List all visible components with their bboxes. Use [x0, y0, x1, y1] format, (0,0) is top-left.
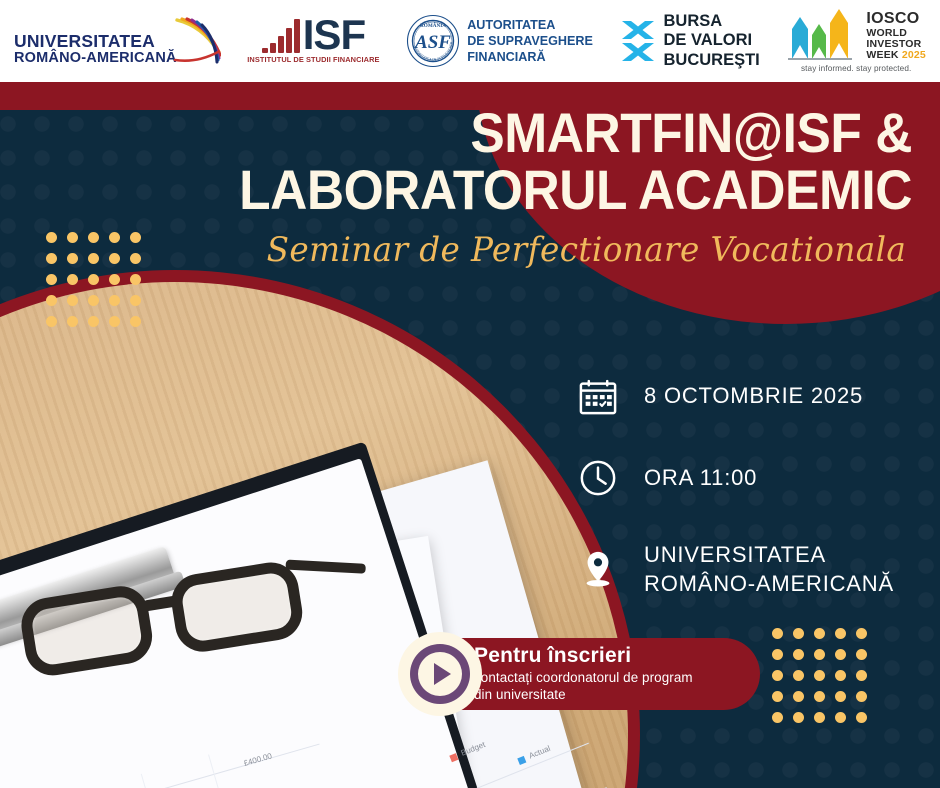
event-date-row: 8 OCTOMBRIE 2025 — [578, 376, 894, 416]
iosco-brand: IOSCO — [866, 11, 926, 28]
asf-line1: AUTORITATEA — [467, 17, 593, 33]
logo-isf: ISF INSTITUTUL DE STUDII FINANCIARE — [247, 18, 379, 63]
event-time-text: ORA 11:00 — [644, 463, 757, 492]
partner-logo-bar: UNIVERSITATEA ROMÂNO-AMERICANĂ — [0, 0, 940, 82]
logo-asf: ROMÂNIA ASF AUTORITATEA DE SUPRAVEGHERE … — [406, 14, 593, 68]
svg-text:ASF: ASF — [414, 32, 451, 53]
pencils-icon — [786, 9, 858, 61]
bvb-x-mark-icon — [620, 19, 656, 63]
page-subtitle: Seminar de Perfectionare Vocationala — [36, 230, 912, 270]
wiw-year: 2025 — [902, 49, 926, 61]
logo-bvb: BURSA DE VALORI BUCUREŞTI — [620, 12, 760, 70]
logo-iosco-wiw: IOSCO WORLD INVESTOR WEEK 2025 stay info… — [786, 9, 926, 73]
ura-line2: ROMÂNO-AMERICANĂ — [14, 51, 177, 66]
swoosh-mark-icon — [173, 16, 221, 68]
wiw-line3: WEEK — [866, 49, 898, 61]
location-pin-icon — [578, 549, 618, 589]
hero-title-block: SMARTFIN@ISF & LABORATORUL ACADEMIC Semi… — [0, 104, 940, 270]
logo-universitatea-romano-americana: UNIVERSITATEA ROMÂNO-AMERICANĂ — [14, 16, 221, 66]
event-time-row: ORA 11:00 — [578, 458, 894, 498]
play-button-icon[interactable] — [398, 632, 482, 716]
isf-tagline: INSTITUTUL DE STUDII FINANCIARE — [247, 55, 379, 64]
bvb-line1: BURSA — [664, 12, 760, 31]
poster-canvas: UNIVERSITATEA ROMÂNO-AMERICANĂ — [0, 0, 940, 788]
ura-line1: UNIVERSITATEA — [14, 33, 177, 51]
business-charts-photo: £400.00 £300.00 £200.00 £100.00 Food Med… — [0, 282, 628, 788]
asf-line3: FINANCIARĂ — [467, 49, 593, 65]
event-date-text: 8 OCTOMBRIE 2025 — [644, 381, 863, 410]
page-title-line2: LABORATORUL ACADEMIC — [73, 161, 912, 218]
event-details-list: 8 OCTOMBRIE 2025 ORA 11:00 UNIVERSITAT — [578, 376, 894, 598]
asf-seal-icon: ROMÂNIA ASF AUTORITATEA DE SUPRAVEGHERE … — [406, 14, 460, 68]
event-venue-line1: UNIVERSITATEA — [644, 540, 894, 569]
eyeglass-lens-left — [17, 582, 156, 679]
calendar-icon — [578, 376, 618, 416]
asf-line2: DE SUPRAVEGHERE — [467, 33, 593, 49]
iosco-tagline: stay informed. stay protected. — [801, 64, 911, 73]
legend-swatch-actual — [517, 756, 526, 765]
legend-swatch-budget — [449, 753, 458, 762]
bvb-line2: DE VALORI — [664, 31, 760, 50]
cta-subtitle-line1: contactați coordonatorul de program — [474, 669, 693, 686]
bar-chart-icon — [262, 19, 300, 53]
page-title-line1: SMARTFIN@ISF & — [73, 104, 912, 161]
event-venue-line2: ROMÂNO-AMERICANĂ — [644, 569, 894, 598]
dot-grid-bottom-right — [772, 628, 867, 723]
bvb-line3: BUCUREŞTI — [664, 51, 760, 70]
event-venue-row: UNIVERSITATEA ROMÂNO-AMERICANĂ — [578, 540, 894, 598]
play-button-ring — [410, 644, 470, 704]
isf-wordmark: ISF — [303, 18, 365, 52]
cta-subtitle-line2: din universitate — [474, 686, 693, 703]
play-button-inner — [418, 652, 462, 696]
cta-title: Pentru înscrieri — [474, 644, 693, 669]
eyeglass-lens-right — [168, 559, 307, 656]
registration-cta-banner[interactable]: Pentru înscrieri contactați coordonatoru… — [404, 638, 760, 710]
clock-icon — [578, 458, 618, 498]
photo-circle-mask: £400.00 £300.00 £200.00 £100.00 Food Med… — [0, 282, 628, 788]
play-triangle-icon — [434, 663, 451, 685]
svg-text:ROMÂNIA: ROMÂNIA — [420, 21, 446, 29]
